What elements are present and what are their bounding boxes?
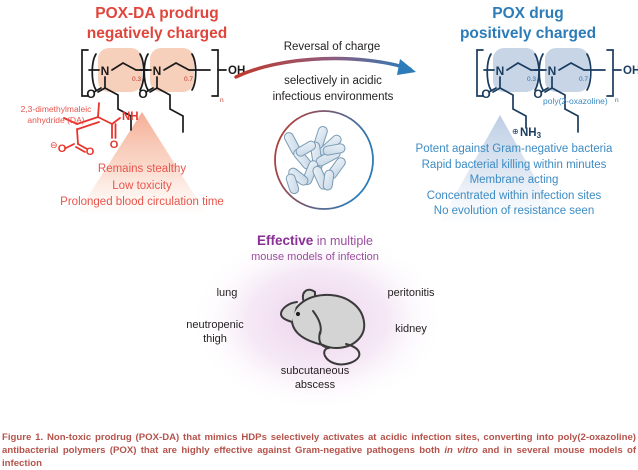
svg-text:N: N xyxy=(101,64,110,78)
left-subscript-n: n xyxy=(220,97,224,104)
bacteria-in-circle xyxy=(272,108,376,212)
model-label-kidney: kidney xyxy=(380,322,442,336)
right-benefit-2: Membrane acting xyxy=(396,173,632,189)
right-subscript-b: 0.7 xyxy=(579,76,588,83)
right-panel-heading: POX drug positively charged xyxy=(428,4,628,44)
svg-text:O: O xyxy=(138,87,147,101)
model-label-neutropenic-line1: neutropenic xyxy=(168,318,262,332)
caption-prefix: Figure 1. xyxy=(2,432,47,443)
arrow-sub-line1: selectively in acidic xyxy=(238,73,428,89)
mouse-models-heading-sub: mouse models of infection xyxy=(212,249,418,265)
svg-text:⊖: ⊖ xyxy=(50,140,58,150)
left-benefit-2: Prolonged blood circulation time xyxy=(22,194,262,211)
left-benefits-list: Remains stealthy Low toxicity Prolonged … xyxy=(22,161,262,211)
polymer-name-label: poly(2-oxazoline) xyxy=(543,96,608,106)
right-benefit-0: Potent against Gram-negative bacteria xyxy=(396,142,632,158)
model-label-neutropenic-line2: thigh xyxy=(168,332,262,346)
svg-text:O: O xyxy=(481,87,490,101)
model-label-peritonitis: peritonitis xyxy=(368,286,454,300)
mouse-models-heading: Effective in multiple mouse models of in… xyxy=(212,233,418,265)
mouse-eye xyxy=(296,312,300,316)
left-subscript-b: 0.7 xyxy=(184,76,193,83)
da-chem-label: 2,3-dimethylmaleic anhydride (DA) xyxy=(2,104,110,126)
right-benefit-1: Rapid bacterial killing within minutes xyxy=(396,158,632,174)
arrow-label: Reversal of charge xyxy=(252,40,412,54)
svg-text:O: O xyxy=(86,87,95,101)
right-benefit-3: Concentrated within infection sites xyxy=(396,189,632,205)
figure-caption: Figure 1. Non-toxic prodrug (POX-DA) tha… xyxy=(2,431,636,470)
model-label-subcut-line2: abscess xyxy=(248,378,382,392)
svg-text:O: O xyxy=(533,87,542,101)
arrow-sub-line2: infectious environments xyxy=(238,89,428,105)
caption-italic: in vitro xyxy=(444,445,478,456)
svg-text:N: N xyxy=(548,64,557,78)
right-subscript-a: 0.3 xyxy=(527,76,536,83)
model-label-subcutaneous-abscess: subcutaneous abscess xyxy=(248,364,382,392)
left-panel-heading: POX-DA prodrug negatively charged xyxy=(52,4,262,44)
left-subscript-a: 0.3 xyxy=(132,76,141,83)
mouse-models-heading-strong: Effective xyxy=(257,233,313,248)
graphical-abstract: POX-DA prodrug negatively charged POX dr… xyxy=(0,0,638,470)
arrow-sublabel: selectively in acidic infectious environ… xyxy=(238,73,428,105)
left-amide-nh: NH xyxy=(122,111,139,123)
right-end-group-oh: OH xyxy=(623,65,638,77)
left-benefit-0: Remains stealthy xyxy=(22,161,262,178)
svg-text:O: O xyxy=(86,146,95,158)
right-heading-line2: positively charged xyxy=(428,24,628,44)
left-heading-line2: negatively charged xyxy=(52,24,262,44)
svg-text:O: O xyxy=(110,139,119,151)
model-label-neutropenic-thigh: neutropenic thigh xyxy=(168,318,262,346)
right-benefit-4: No evolution of resistance seen xyxy=(396,204,632,220)
cation-label: NH3 xyxy=(520,127,542,140)
svg-text:O: O xyxy=(58,143,67,155)
model-label-lung: lung xyxy=(196,286,258,300)
da-label-line2: anhydride (DA) xyxy=(2,115,110,126)
left-benefit-1: Low toxicity xyxy=(22,178,262,195)
right-benefits-list: Potent against Gram-negative bacteria Ra… xyxy=(396,142,632,220)
da-label-line1: 2,3-dimethylmaleic xyxy=(2,104,110,115)
svg-text:N: N xyxy=(496,64,505,78)
mouse-models-heading-line1: Effective in multiple xyxy=(212,233,418,249)
right-subscript-n: n xyxy=(615,97,619,104)
model-label-subcut-line1: subcutaneous xyxy=(248,364,382,378)
right-heading-line1: POX drug xyxy=(428,4,628,24)
mouse-models-heading-rest: in multiple xyxy=(313,234,373,248)
cation-charge-symbol: ⊕ xyxy=(512,127,519,136)
svg-text:N: N xyxy=(153,64,162,78)
left-heading-line1: POX-DA prodrug xyxy=(52,4,262,24)
